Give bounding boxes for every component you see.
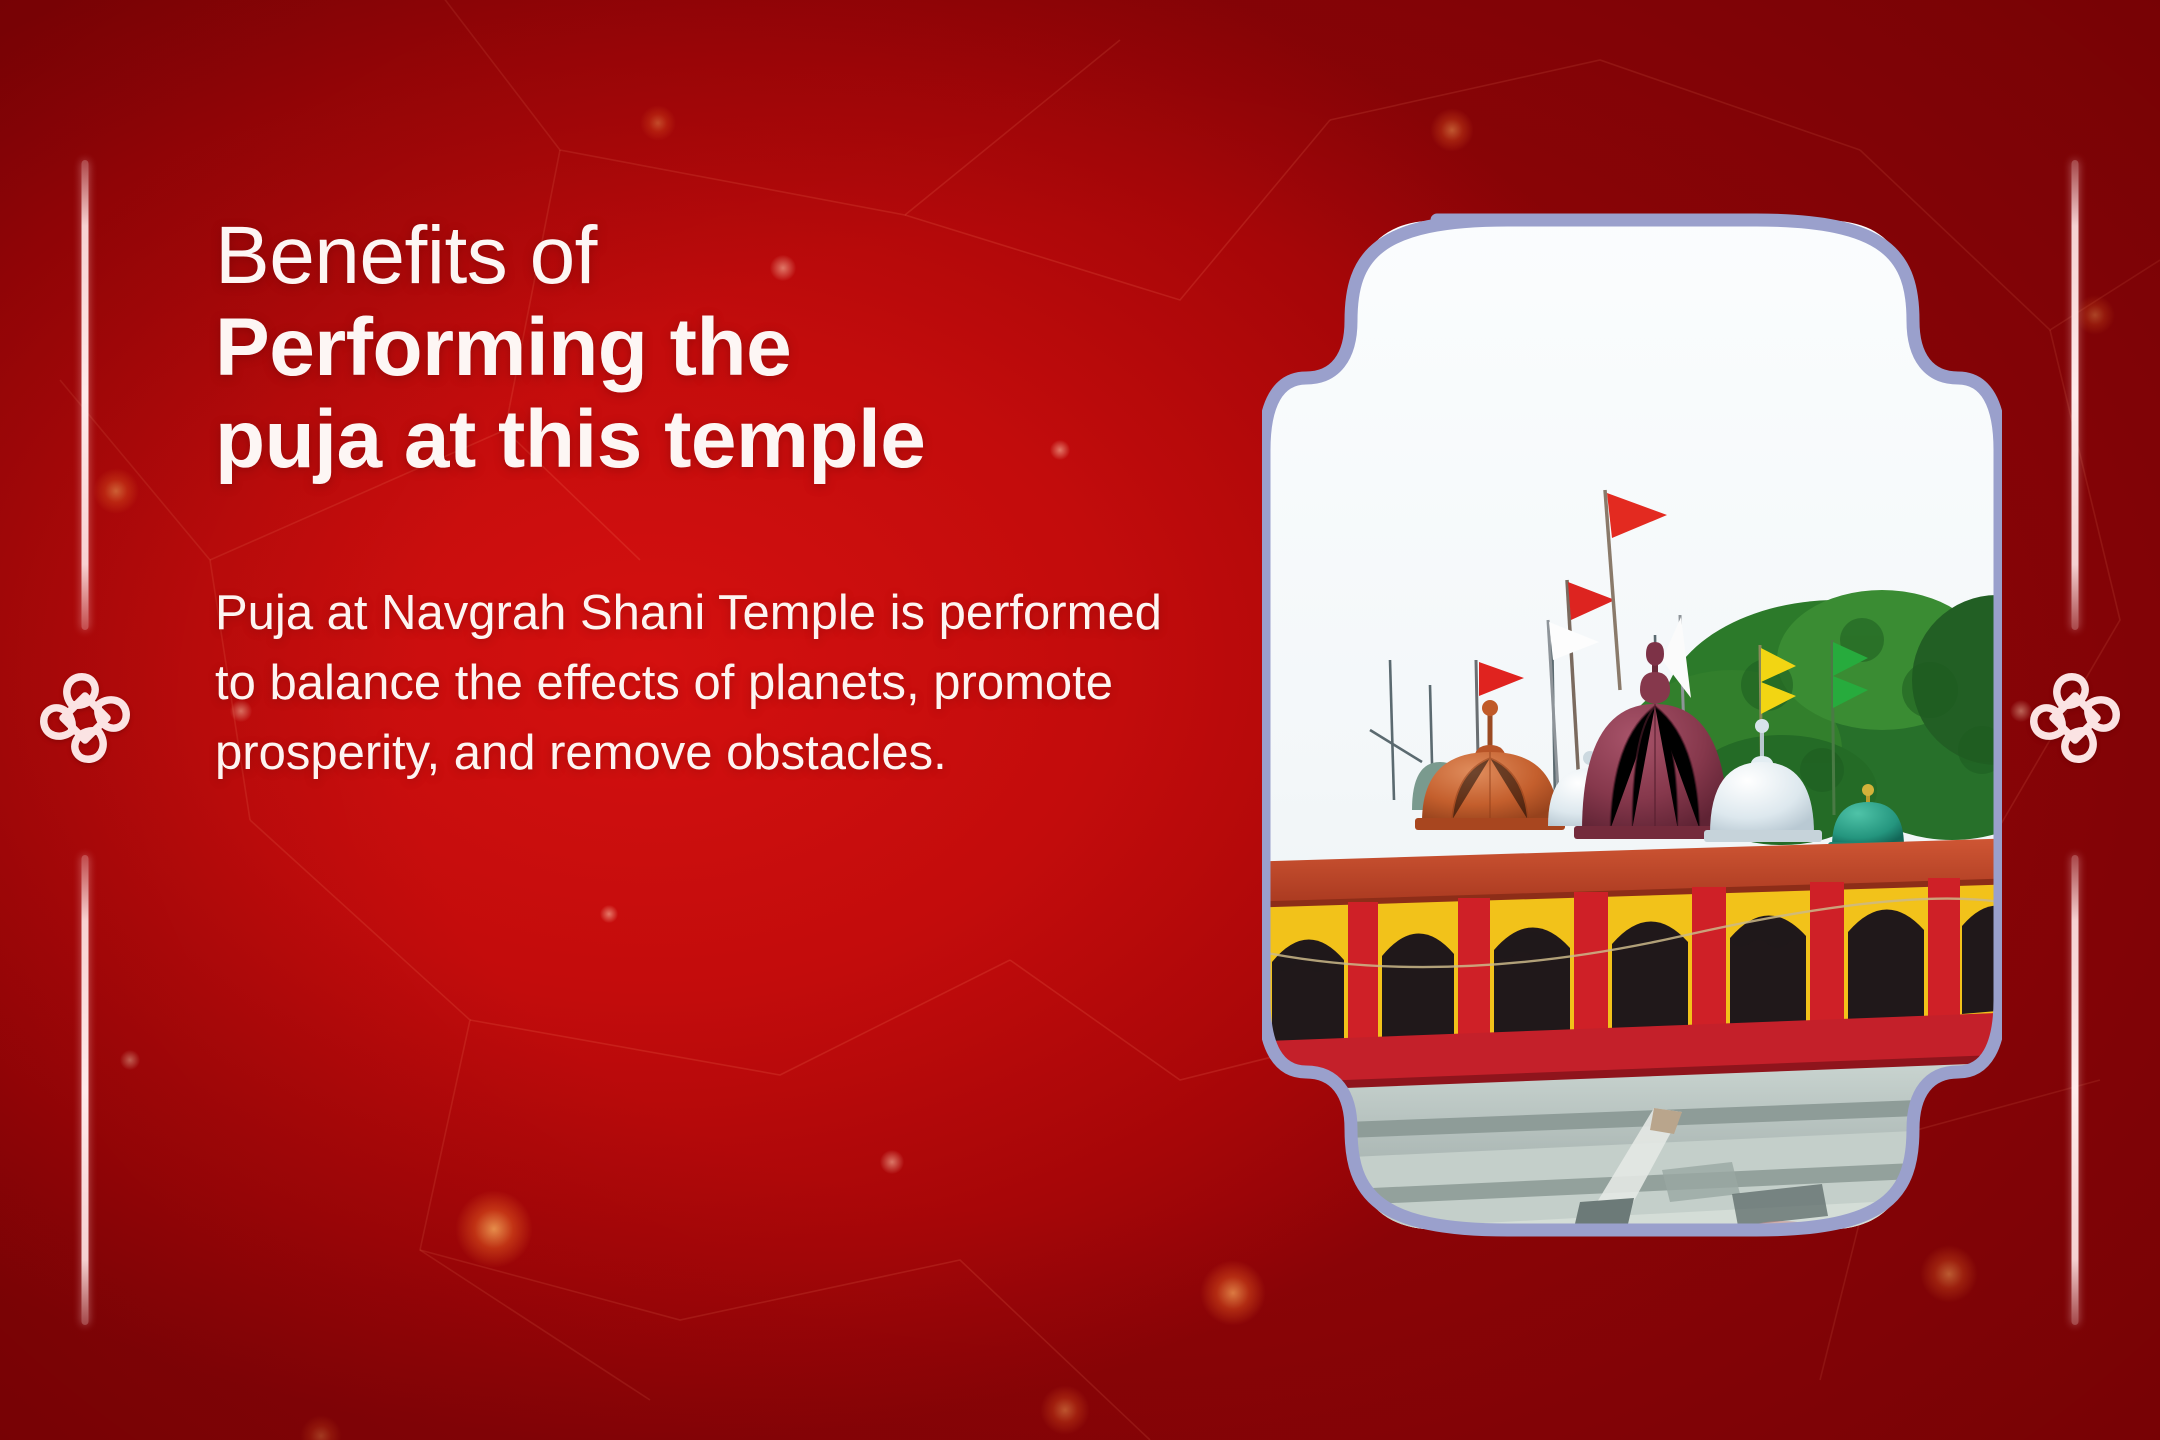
temple-photo [1262, 190, 2002, 1260]
divider-line-top [82, 160, 89, 630]
left-decorative-rail [0, 0, 170, 1440]
text-column: Benefits of Performing the puja at this … [215, 210, 1215, 788]
endless-knot-icon [19, 663, 151, 773]
body-paragraph: Puja at Navgrah Shani Temple is performe… [215, 579, 1175, 788]
headline-line-3: puja at this temple [215, 394, 1215, 486]
divider-line-top [2072, 160, 2079, 630]
temple-arcade [1262, 878, 2002, 1098]
temple-photo-frame [1262, 190, 2002, 1260]
endless-knot-icon [2009, 663, 2141, 773]
right-decorative-rail [1990, 0, 2160, 1440]
headline-line-2: Performing the [215, 302, 1215, 394]
page-title: Benefits of Performing the puja at this … [215, 210, 1215, 485]
divider-line-bottom [82, 855, 89, 1325]
headline-line-1: Benefits of [215, 210, 1215, 302]
divider-line-bottom [2072, 855, 2079, 1325]
